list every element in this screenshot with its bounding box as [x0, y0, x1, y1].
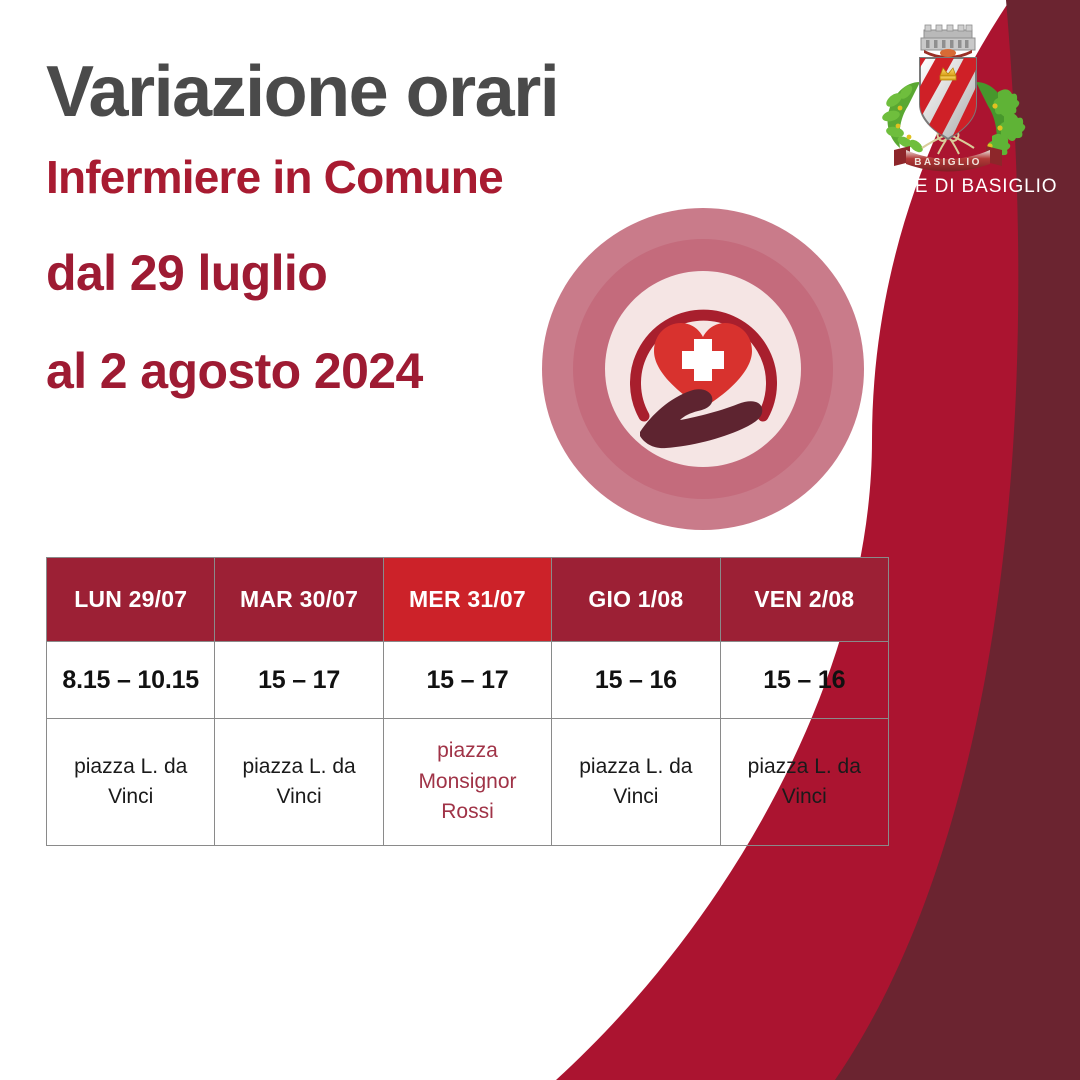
olive-branch — [881, 82, 925, 155]
table-header-row: LUN 29/07 MAR 30/07 MER 31/07 GIO 1/08 V… — [47, 558, 889, 642]
page-subtitle: Infermiere in Comune — [46, 154, 558, 200]
basiglio-coat-of-arms-icon: BASIGLIO — [864, 22, 1032, 174]
place-cell-1: piazza L. da Vinci — [215, 719, 383, 846]
day-header-0: LUN 29/07 — [47, 558, 215, 642]
day-header-4: VEN 2/08 — [720, 558, 888, 642]
day-header-3: GIO 1/08 — [552, 558, 720, 642]
time-cell-2: 15 – 17 — [383, 642, 551, 719]
place-cell-2: piazza Monsignor Rossi — [383, 719, 551, 846]
time-cell-1: 15 – 17 — [215, 642, 383, 719]
table-row-places: piazza L. da Vinci piazza L. da Vinci pi… — [47, 719, 889, 846]
comune-logo: BASIGLIO COMUNE DI BASIGLIO — [838, 22, 1058, 198]
time-cell-0: 8.15 – 10.15 — [47, 642, 215, 719]
time-cell-4: 15 – 16 — [720, 642, 888, 719]
heading-block: Variazione orari Infermiere in Comune da… — [46, 56, 558, 396]
ribbon: BASIGLIO — [894, 146, 1002, 172]
heart-in-hand-care-icon — [542, 208, 864, 530]
place-cell-0: piazza L. da Vinci — [47, 719, 215, 846]
mural-crown — [921, 25, 975, 59]
schedule-table-wrapper: LUN 29/07 MAR 30/07 MER 31/07 GIO 1/08 V… — [46, 557, 889, 846]
day-header-2: MER 31/07 — [383, 558, 551, 642]
place-cell-3: piazza L. da Vinci — [552, 719, 720, 846]
schedule-table: LUN 29/07 MAR 30/07 MER 31/07 GIO 1/08 V… — [46, 557, 889, 846]
oak-branch — [976, 82, 1025, 158]
page-title: Variazione orari — [46, 56, 558, 128]
day-header-1: MAR 30/07 — [215, 558, 383, 642]
date-from: dal 29 luglio — [46, 248, 558, 298]
time-cell-3: 15 – 16 — [552, 642, 720, 719]
table-row-times: 8.15 – 10.15 15 – 17 15 – 17 15 – 16 15 … — [47, 642, 889, 719]
logo-caption: COMUNE DI BASIGLIO — [838, 176, 1058, 198]
poster-canvas: BASIGLIO COMUNE DI BASIGLIO LUN 29/07 MA… — [0, 0, 1080, 1080]
place-cell-4: piazza L. da Vinci — [720, 719, 888, 846]
date-to: al 2 agosto 2024 — [46, 346, 558, 396]
ribbon-text: BASIGLIO — [914, 157, 982, 168]
